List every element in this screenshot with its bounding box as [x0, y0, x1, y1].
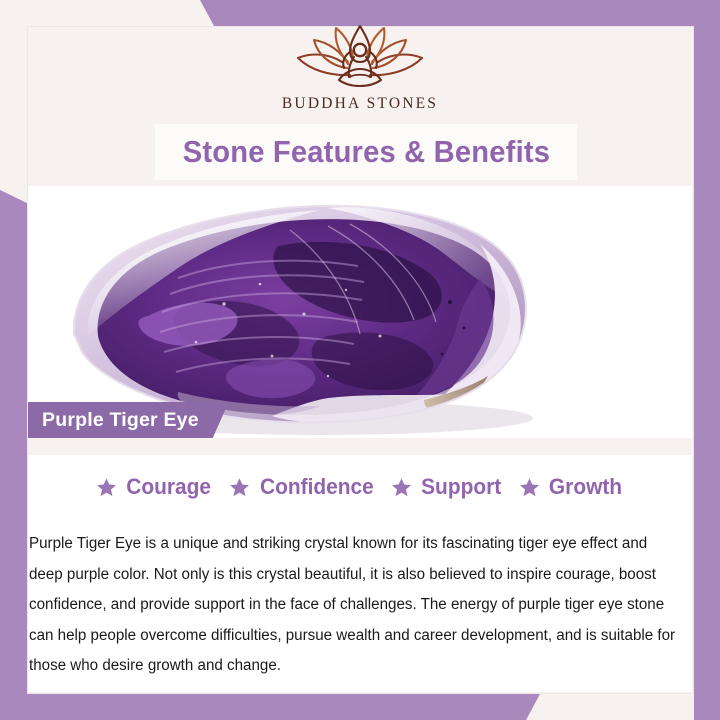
- purple-tiger-eye-stone-image: [28, 186, 692, 440]
- status-badge: Purple Tiger Eye: [28, 402, 229, 438]
- description-paragraph: Purple Tiger Eye is a unique and strikin…: [29, 529, 683, 682]
- benefit-label: Courage: [127, 474, 212, 500]
- page-title: Stone Features & Benefits: [182, 134, 549, 170]
- title-band: Stone Features & Benefits: [155, 124, 577, 180]
- star-icon: [229, 477, 250, 498]
- star-icon: [519, 477, 540, 498]
- brand-name: BUDDHA STONES: [282, 95, 438, 113]
- benefit-label: Support: [421, 474, 501, 500]
- stone-photo-panel: [28, 186, 692, 440]
- star-icon: [391, 477, 412, 498]
- panel-divider-strip: [28, 438, 692, 455]
- benefits-row: Courage Confidence Support Growth: [28, 474, 692, 500]
- infographic-card: BUDDHA STONES Stone Features & Benefits: [0, 0, 720, 720]
- benefit-label: Confidence: [260, 474, 374, 500]
- frame-left-bar: [0, 190, 27, 720]
- frame-bottom-bar: [0, 694, 540, 720]
- benefit-item-growth: Growth: [519, 474, 624, 500]
- lotus-meditating-figure-icon: [292, 22, 428, 88]
- star-icon: [96, 477, 117, 498]
- benefit-label: Growth: [549, 474, 622, 500]
- benefit-item-confidence: Confidence: [229, 474, 377, 500]
- brand-logo: BUDDHA STONES: [0, 22, 720, 113]
- benefit-item-support: Support: [391, 474, 503, 500]
- benefit-item-courage: Courage: [96, 474, 213, 500]
